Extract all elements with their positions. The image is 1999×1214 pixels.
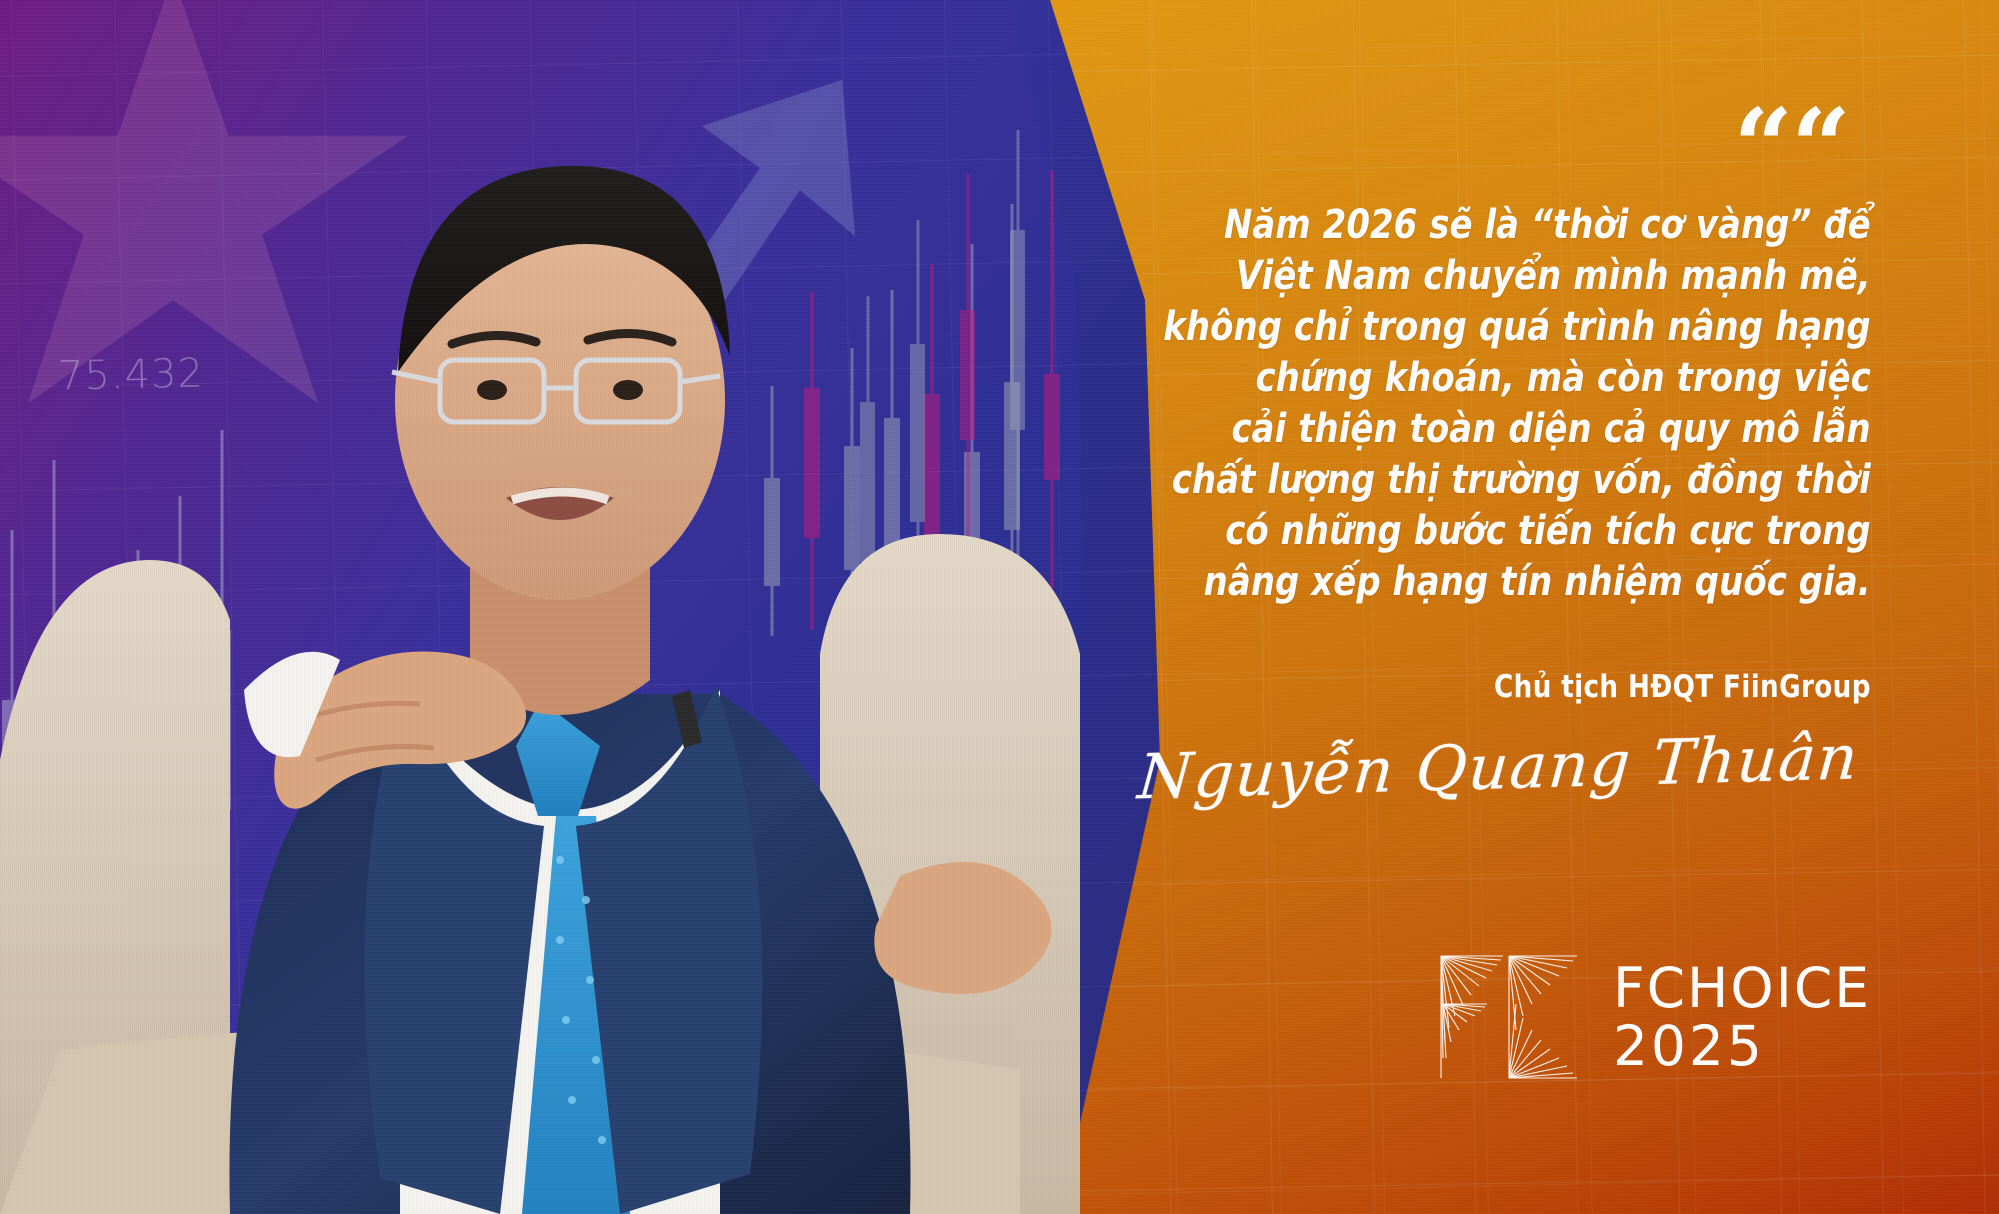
quote-line: Năm 2026 sẽ là “thời cơ vàng” để: [1163, 199, 1871, 250]
quote-text: Năm 2026 sẽ là “thời cơ vàng” để Việt Na…: [1163, 199, 1871, 607]
quote-card: 75.432: [0, 0, 1999, 1214]
logo-name: FCHOICE: [1613, 959, 1871, 1017]
quote-line: chất lượng thị trường vốn, đồng thời: [1163, 454, 1871, 505]
logo-year: 2025: [1613, 1017, 1871, 1075]
portrait-photo: [0, 0, 1080, 1214]
quote-line: có những bước tiến tích cực trong: [1163, 505, 1871, 556]
quote-line: không chỉ trong quá trình nâng hạng: [1163, 301, 1871, 352]
fc-logo-mark-icon: [1437, 952, 1587, 1082]
logo-wordmark: FCHOICE 2025: [1613, 959, 1871, 1075]
attribution-signature: Nguyễn Quang Thuân: [1135, 711, 1875, 823]
quote-line: nâng xếp hạng tín nhiệm quốc gia.: [1163, 556, 1871, 607]
quote-line: chứng khoán, mà còn trong việc: [1163, 352, 1871, 403]
fchoice-logo: FCHOICE 2025: [1437, 952, 1871, 1082]
quote-line: Việt Nam chuyển mình mạnh mẽ,: [1163, 250, 1871, 301]
quote-line: cải thiện toàn diện cả quy mô lẫn: [1163, 403, 1871, 454]
attribution-role: Chủ tịch HĐQT FiinGroup: [1494, 669, 1871, 705]
open-quote-icon: ““: [1733, 118, 1849, 175]
